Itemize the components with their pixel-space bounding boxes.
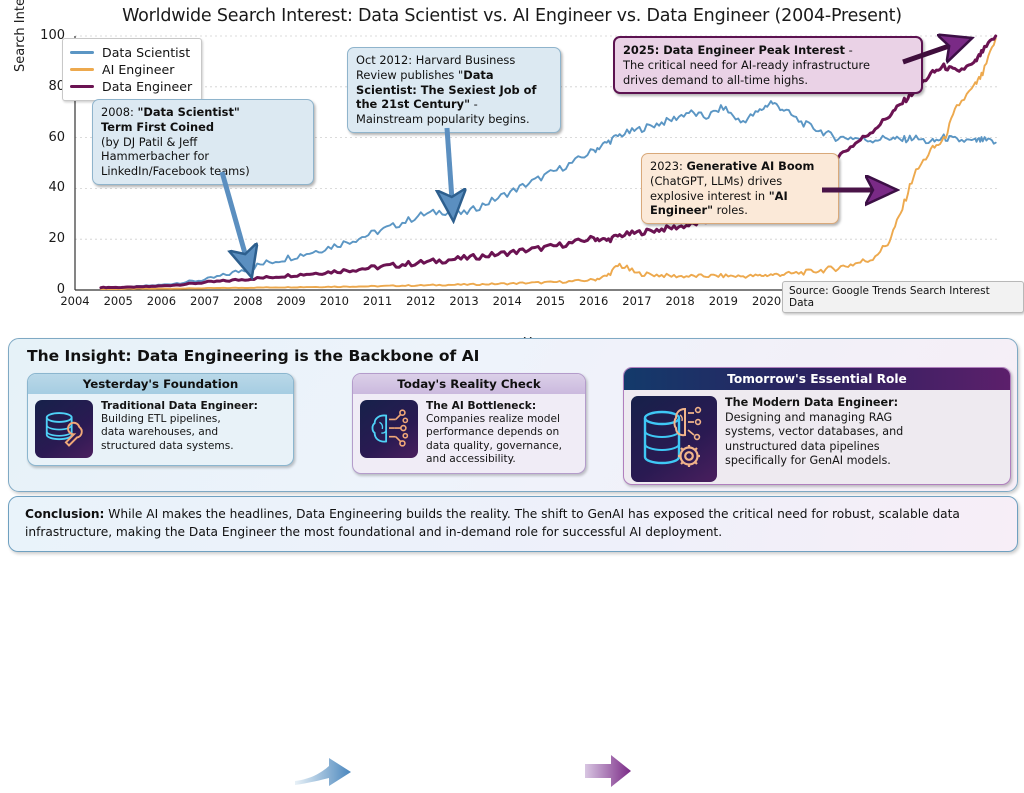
legend-item-ai-engineer[interactable]: AI Engineer: [70, 61, 192, 78]
insight-title: The Insight: Data Engineering is the Bac…: [27, 347, 479, 365]
stage3-heading: Tomorrow's Essential Role: [624, 368, 1010, 390]
stage2-heading: Today's Reality Check: [353, 374, 585, 394]
x-tick-2007: 2007: [190, 294, 219, 308]
ann-2008-line-3: Hammerbacher for: [101, 149, 305, 164]
ann-2008-line-2: (by DJ Patil & Jeff: [101, 135, 305, 150]
x-tick-2008: 2008: [233, 294, 262, 308]
x-tick-2012: 2012: [406, 294, 435, 308]
y-tick-100: 100: [25, 28, 65, 43]
ann-2012-line-1: Review publishes "Data: [356, 68, 552, 83]
stage-tomorrows-essential-role: Tomorrow's Essential Role: [623, 367, 1011, 485]
stage2-body: Companies realize modelperformance depen…: [426, 413, 562, 465]
x-tick-2011: 2011: [363, 294, 392, 308]
x-tick-2018: 2018: [665, 294, 694, 308]
stage3-body: Designing and managing RAGsystems, vecto…: [725, 411, 903, 468]
x-tick-2015: 2015: [536, 294, 565, 308]
ann-2025-line-1: The critical need for AI-ready infrastru…: [623, 58, 913, 73]
x-tick-2020: 2020: [752, 294, 781, 308]
stage2-lead: The AI Bottleneck:: [426, 400, 536, 412]
legend-item-data-engineer[interactable]: Data Engineer: [70, 78, 192, 95]
ann-2012-line-2: Scientist: The Sexiest Job of: [356, 83, 552, 98]
conclusion-lead: Conclusion:: [25, 507, 104, 521]
stage-yesterdays-foundation: Yesterday's Foundation Traditional Data …: [27, 373, 294, 466]
stage3-lead: The Modern Data Engineer:: [725, 396, 898, 409]
annotation-2012-hbr: Oct 2012: Harvard BusinessReview publish…: [347, 47, 561, 133]
ann-2012-line-4: Mainstream popularity begins.: [356, 112, 552, 127]
ann-2008-line-4: LinkedIn/Facebook teams): [101, 164, 305, 179]
ann-2008-line-0: 2008: "Data Scientist": [101, 105, 305, 120]
x-tick-2010: 2010: [320, 294, 349, 308]
ann-2025-line-2: drives demand to all-time highs.: [623, 73, 913, 88]
legend-swatch-icon: [70, 85, 94, 88]
stage3-text: The Modern Data Engineer: Designing and …: [725, 396, 903, 469]
chart-panel: Worldwide Search Interest: Data Scientis…: [0, 0, 1024, 335]
insight-panel: The Insight: Data Engineering is the Bac…: [8, 338, 1018, 492]
chart-title: Worldwide Search Interest: Data Scientis…: [0, 6, 1024, 26]
ann-2023-line-3: Engineer" roles.: [650, 203, 830, 218]
brain-circuit-icon: [360, 400, 418, 458]
conclusion-body: While AI makes the headlines, Data Engin…: [25, 507, 960, 539]
conclusion-panel: Conclusion: While AI makes the headlines…: [8, 496, 1018, 552]
stage2-text: The AI Bottleneck: Companies realize mod…: [426, 400, 562, 466]
annotation-2025-peak: 2025: Data Engineer Peak Interest -The c…: [613, 36, 923, 94]
database-wrench-icon: [35, 400, 93, 458]
x-tick-2006: 2006: [147, 294, 176, 308]
conclusion-text: Conclusion: While AI makes the headlines…: [25, 506, 1007, 541]
arrow-stage2-to-stage3: [585, 751, 633, 791]
chart-legend[interactable]: Data ScientistAI EngineerData Engineer: [62, 38, 202, 101]
ann-2025-line-0: 2025: Data Engineer Peak Interest -: [623, 43, 913, 58]
x-tick-2016: 2016: [579, 294, 608, 308]
legend-label: AI Engineer: [102, 62, 174, 77]
y-tick-20: 20: [25, 231, 65, 246]
annotation-2023-genai-boom: 2023: Generative AI Boom(ChatGPT, LLMs) …: [641, 153, 839, 224]
ann-2008-line-1: Term First Coined: [101, 120, 305, 135]
legend-label: Data Engineer: [102, 79, 192, 94]
source-note: Source: Google Trends Search Interest Da…: [782, 281, 1024, 313]
ann-2023-line-1: (ChatGPT, LLMs) drives: [650, 174, 830, 189]
y-tick-60: 60: [25, 130, 65, 145]
x-tick-2005: 2005: [104, 294, 133, 308]
arrow-stage1-to-stage2: [295, 751, 355, 793]
stage-todays-reality-check: Today's Reality Check: [352, 373, 586, 474]
stage1-lead: Traditional Data Engineer:: [101, 400, 258, 412]
x-tick-2017: 2017: [622, 294, 651, 308]
infographic-root: Worldwide Search Interest: Data Scientis…: [0, 0, 1024, 559]
annotation-2008-coined: 2008: "Data Scientist"Term First Coined(…: [92, 99, 314, 185]
y-tick-40: 40: [25, 180, 65, 195]
ann-2012-line-3: the 21st Century" -: [356, 97, 552, 112]
stage1-body: Building ETL pipelines,data warehouses, …: [101, 413, 234, 451]
legend-item-data-scientist[interactable]: Data Scientist: [70, 44, 192, 61]
legend-swatch-icon: [70, 51, 94, 54]
x-tick-2004: 2004: [60, 294, 89, 308]
ann-2012-line-0: Oct 2012: Harvard Business: [356, 53, 552, 68]
y-tick-0: 0: [25, 282, 65, 297]
database-brain-gear-icon: [631, 396, 717, 482]
x-tick-2009: 2009: [276, 294, 305, 308]
x-tick-2019: 2019: [709, 294, 738, 308]
stage1-heading: Yesterday's Foundation: [28, 374, 293, 394]
legend-swatch-icon: [70, 68, 94, 71]
legend-label: Data Scientist: [102, 45, 190, 60]
stage1-text: Traditional Data Engineer: Building ETL …: [101, 400, 258, 453]
x-tick-2014: 2014: [493, 294, 522, 308]
ann-2023-line-2: explosive interest in "AI: [650, 189, 830, 204]
x-tick-2013: 2013: [449, 294, 478, 308]
ann-2023-line-0: 2023: Generative AI Boom: [650, 159, 830, 174]
y-tick-80: 80: [25, 79, 65, 94]
